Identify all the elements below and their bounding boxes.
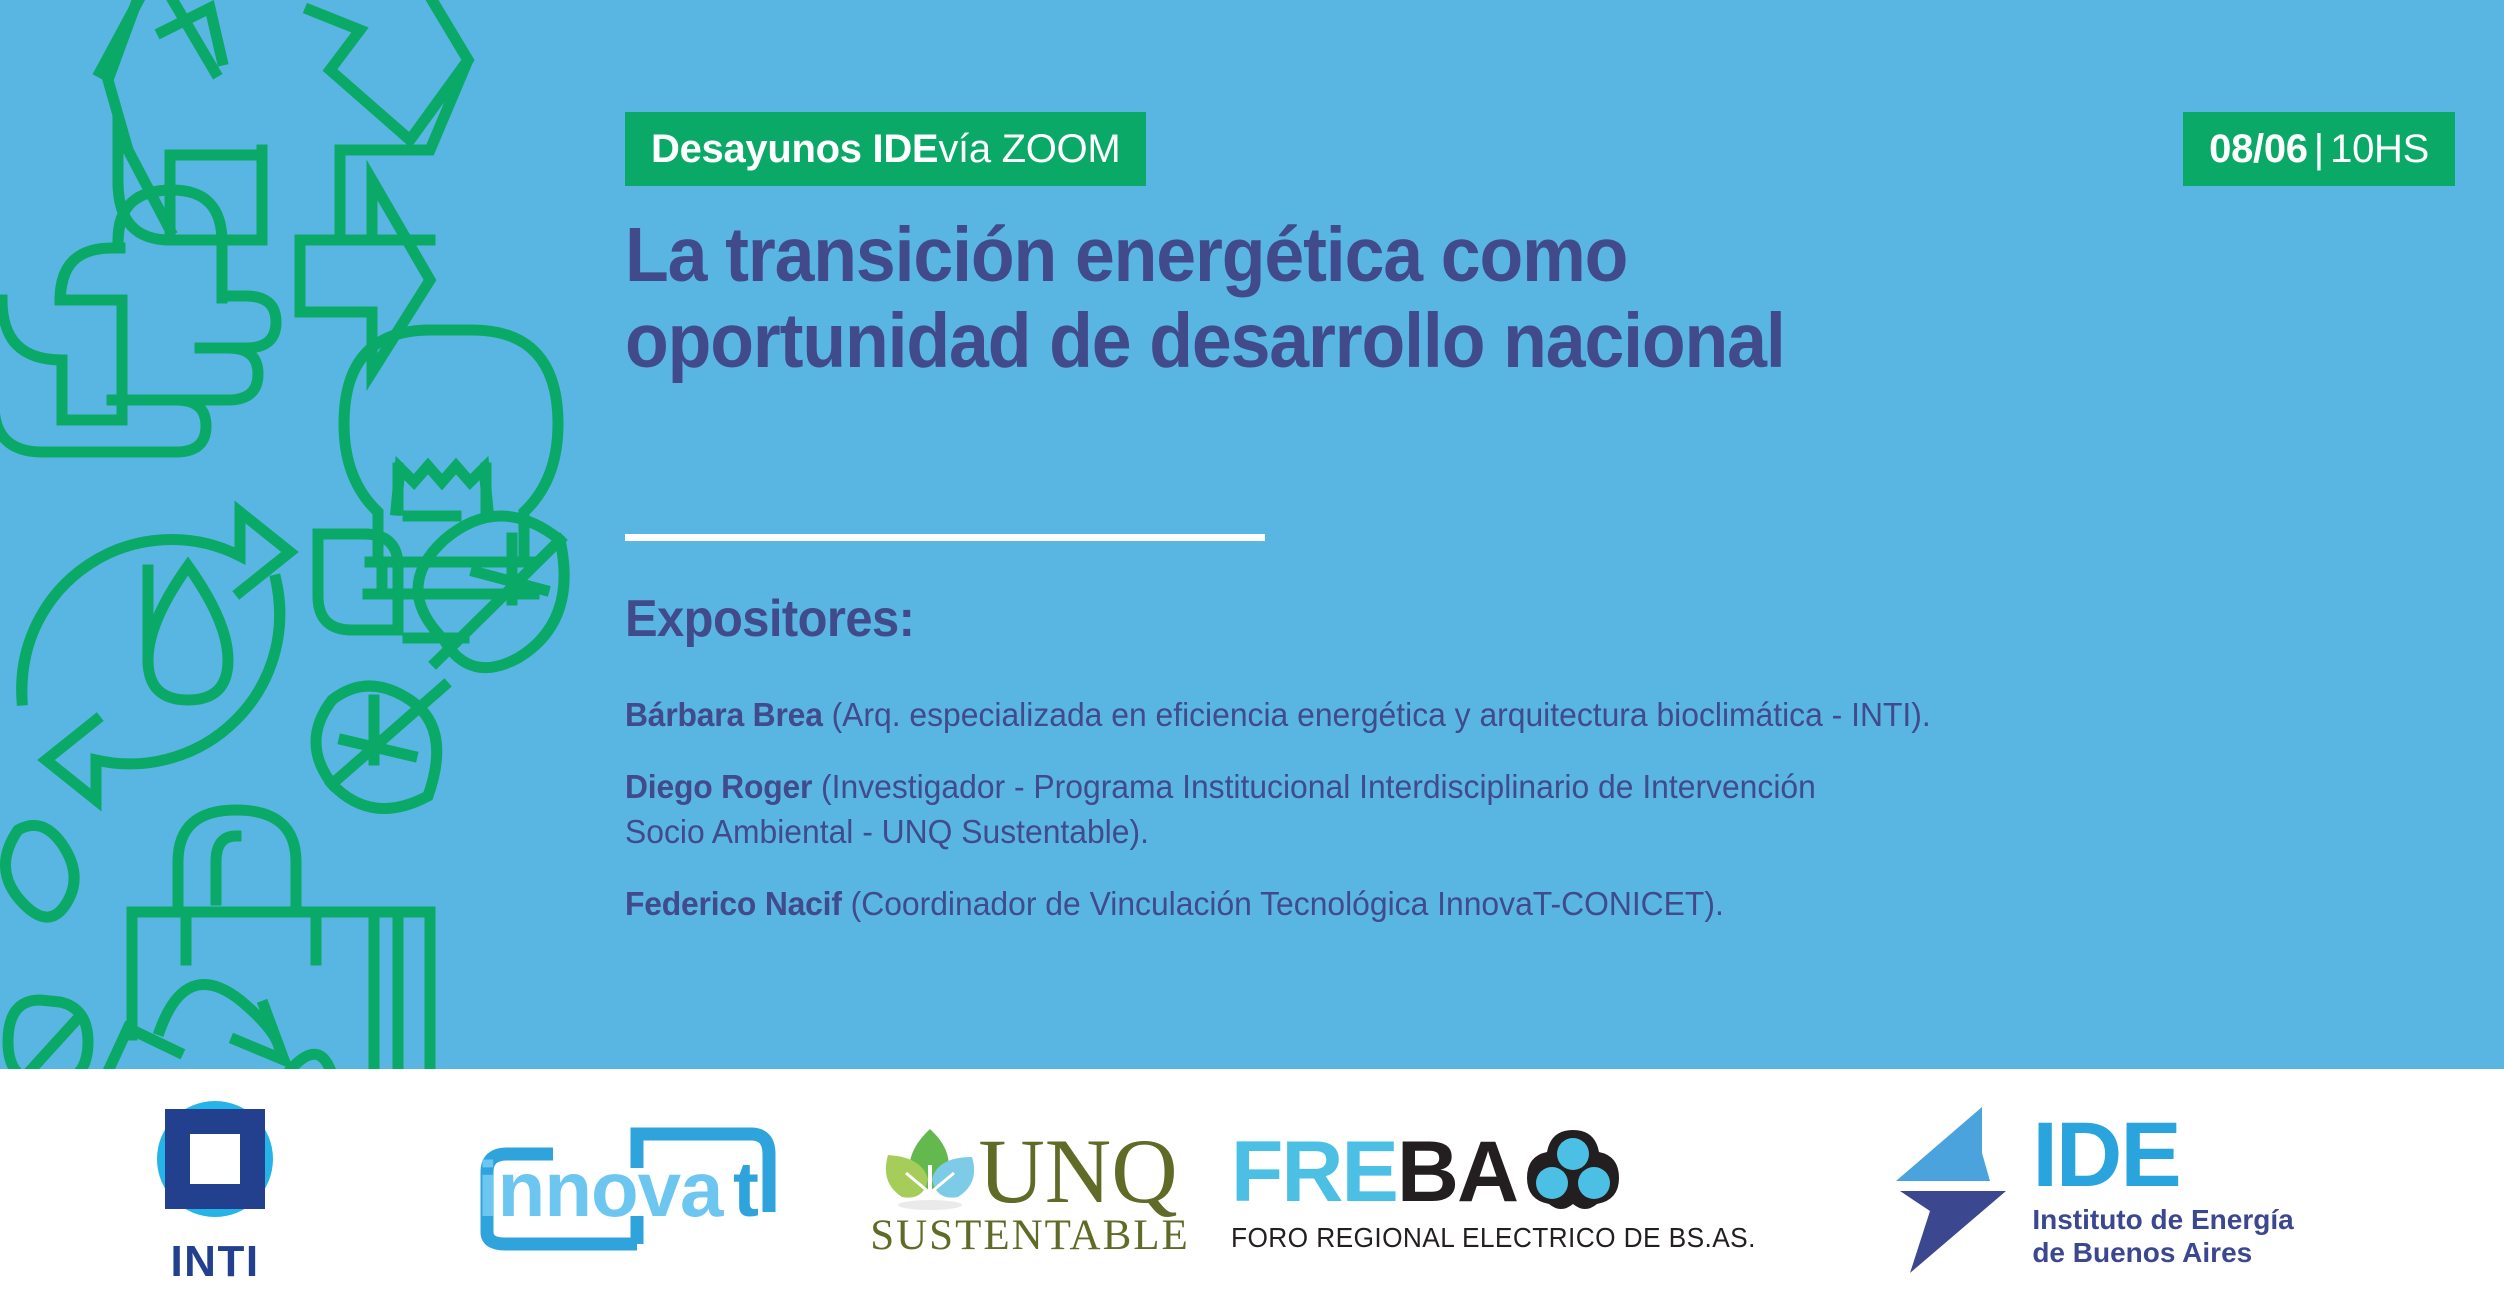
ide-bolt-icon [1886, 1105, 2026, 1275]
freba-word-b: BA [1397, 1129, 1517, 1215]
list-item: Federico Nacif (Coordinador de Vinculaci… [625, 881, 2391, 926]
svg-text:innova: innova [477, 1145, 724, 1233]
unq-sub: SUSTENTABLE [870, 1211, 1190, 1260]
logo-freba: FRE BA FORO REGIONAL ELECTRICO DE BS.AS. [1230, 1069, 1790, 1311]
date-text: 08/06 [2209, 127, 2308, 172]
lightbulb-icon [344, 330, 558, 638]
unq-word: UNQ [978, 1129, 1177, 1213]
svg-text:t: t [733, 1145, 759, 1233]
datetime-separator: | [2308, 127, 2330, 172]
freba-sub: FORO REGIONAL ELECTRICO DE BS.AS. [1231, 1222, 1756, 1254]
speaker-name: Diego Roger [625, 768, 812, 805]
recycle-icon [100, 0, 468, 372]
poster-content: Desayunos IDE vía ZOOM 08/06 | 10HS La t… [625, 0, 2455, 1069]
freba-word-a: FRE [1231, 1129, 1397, 1215]
speakers-list: Bárbara Brea (Arq. especializada en efic… [625, 692, 2455, 953]
speaker-role: (Arq. especializada en eficiencia energé… [823, 696, 1931, 733]
leaf-icons [5, 516, 564, 1069]
logo-ide: IDE Instituto de Energía de Buenos Aires [1790, 1069, 2390, 1311]
series-badge-light: vía ZOOM [938, 127, 1120, 172]
thumbs-up-icon [0, 190, 276, 452]
speaker-name: Bárbara Brea [625, 696, 823, 733]
speaker-name: Federico Nacif [625, 885, 842, 922]
divider-rule [625, 534, 1265, 541]
badge-row: Desayunos IDE vía ZOOM 08/06 | 10HS [625, 112, 2455, 186]
title-line-2: oportunidad de desarrollo nacional [625, 298, 2020, 384]
innovat-mark-icon: innova t [465, 1120, 795, 1260]
freba-trefoil-icon [1525, 1126, 1621, 1212]
ide-sub-line-1: Instituto de Energía [2032, 1203, 2293, 1236]
logo-unq-sustentable: UNQ SUSTENTABLE [830, 1069, 1230, 1311]
title-line-1: La transición energética como [625, 212, 2020, 298]
poster-canvas: Desayunos IDE vía ZOOM 08/06 | 10HS La t… [0, 0, 2504, 1311]
speaker-role: (Coordinador de Vinculación Tecnológica … [842, 885, 1724, 922]
inti-label: INTI [170, 1237, 259, 1287]
list-item: Bárbara Brea (Arq. especializada en efic… [625, 692, 2391, 737]
logo-innovat: innova t [430, 1069, 830, 1311]
logo-inti: INTI [0, 1069, 430, 1311]
page-title: La transición energética como oportunida… [625, 212, 2020, 384]
inti-mark-icon [145, 1093, 285, 1233]
datetime-badge: 08/06 | 10HS [2183, 112, 2455, 186]
ide-sub-line-2: de Buenos Aires [2032, 1236, 2293, 1269]
time-text: 10HS [2330, 127, 2429, 172]
series-badge: Desayunos IDE vía ZOOM [625, 112, 1146, 186]
series-badge-strong: Desayunos IDE [651, 127, 938, 172]
ide-word: IDE [2032, 1111, 2293, 1199]
recycle-arrows-icon [104, 985, 330, 1069]
shopping-bag-icon [132, 810, 430, 1069]
sponsor-logo-bar: INTI innova t [0, 1069, 2504, 1311]
speakers-heading: Expositores: [625, 590, 914, 648]
eco-icon-pattern [0, 0, 620, 1069]
water-cycle-icon [22, 512, 290, 800]
unq-leaves-icon [882, 1121, 978, 1213]
list-item: Diego Roger (Investigador - Programa Ins… [625, 764, 1899, 854]
